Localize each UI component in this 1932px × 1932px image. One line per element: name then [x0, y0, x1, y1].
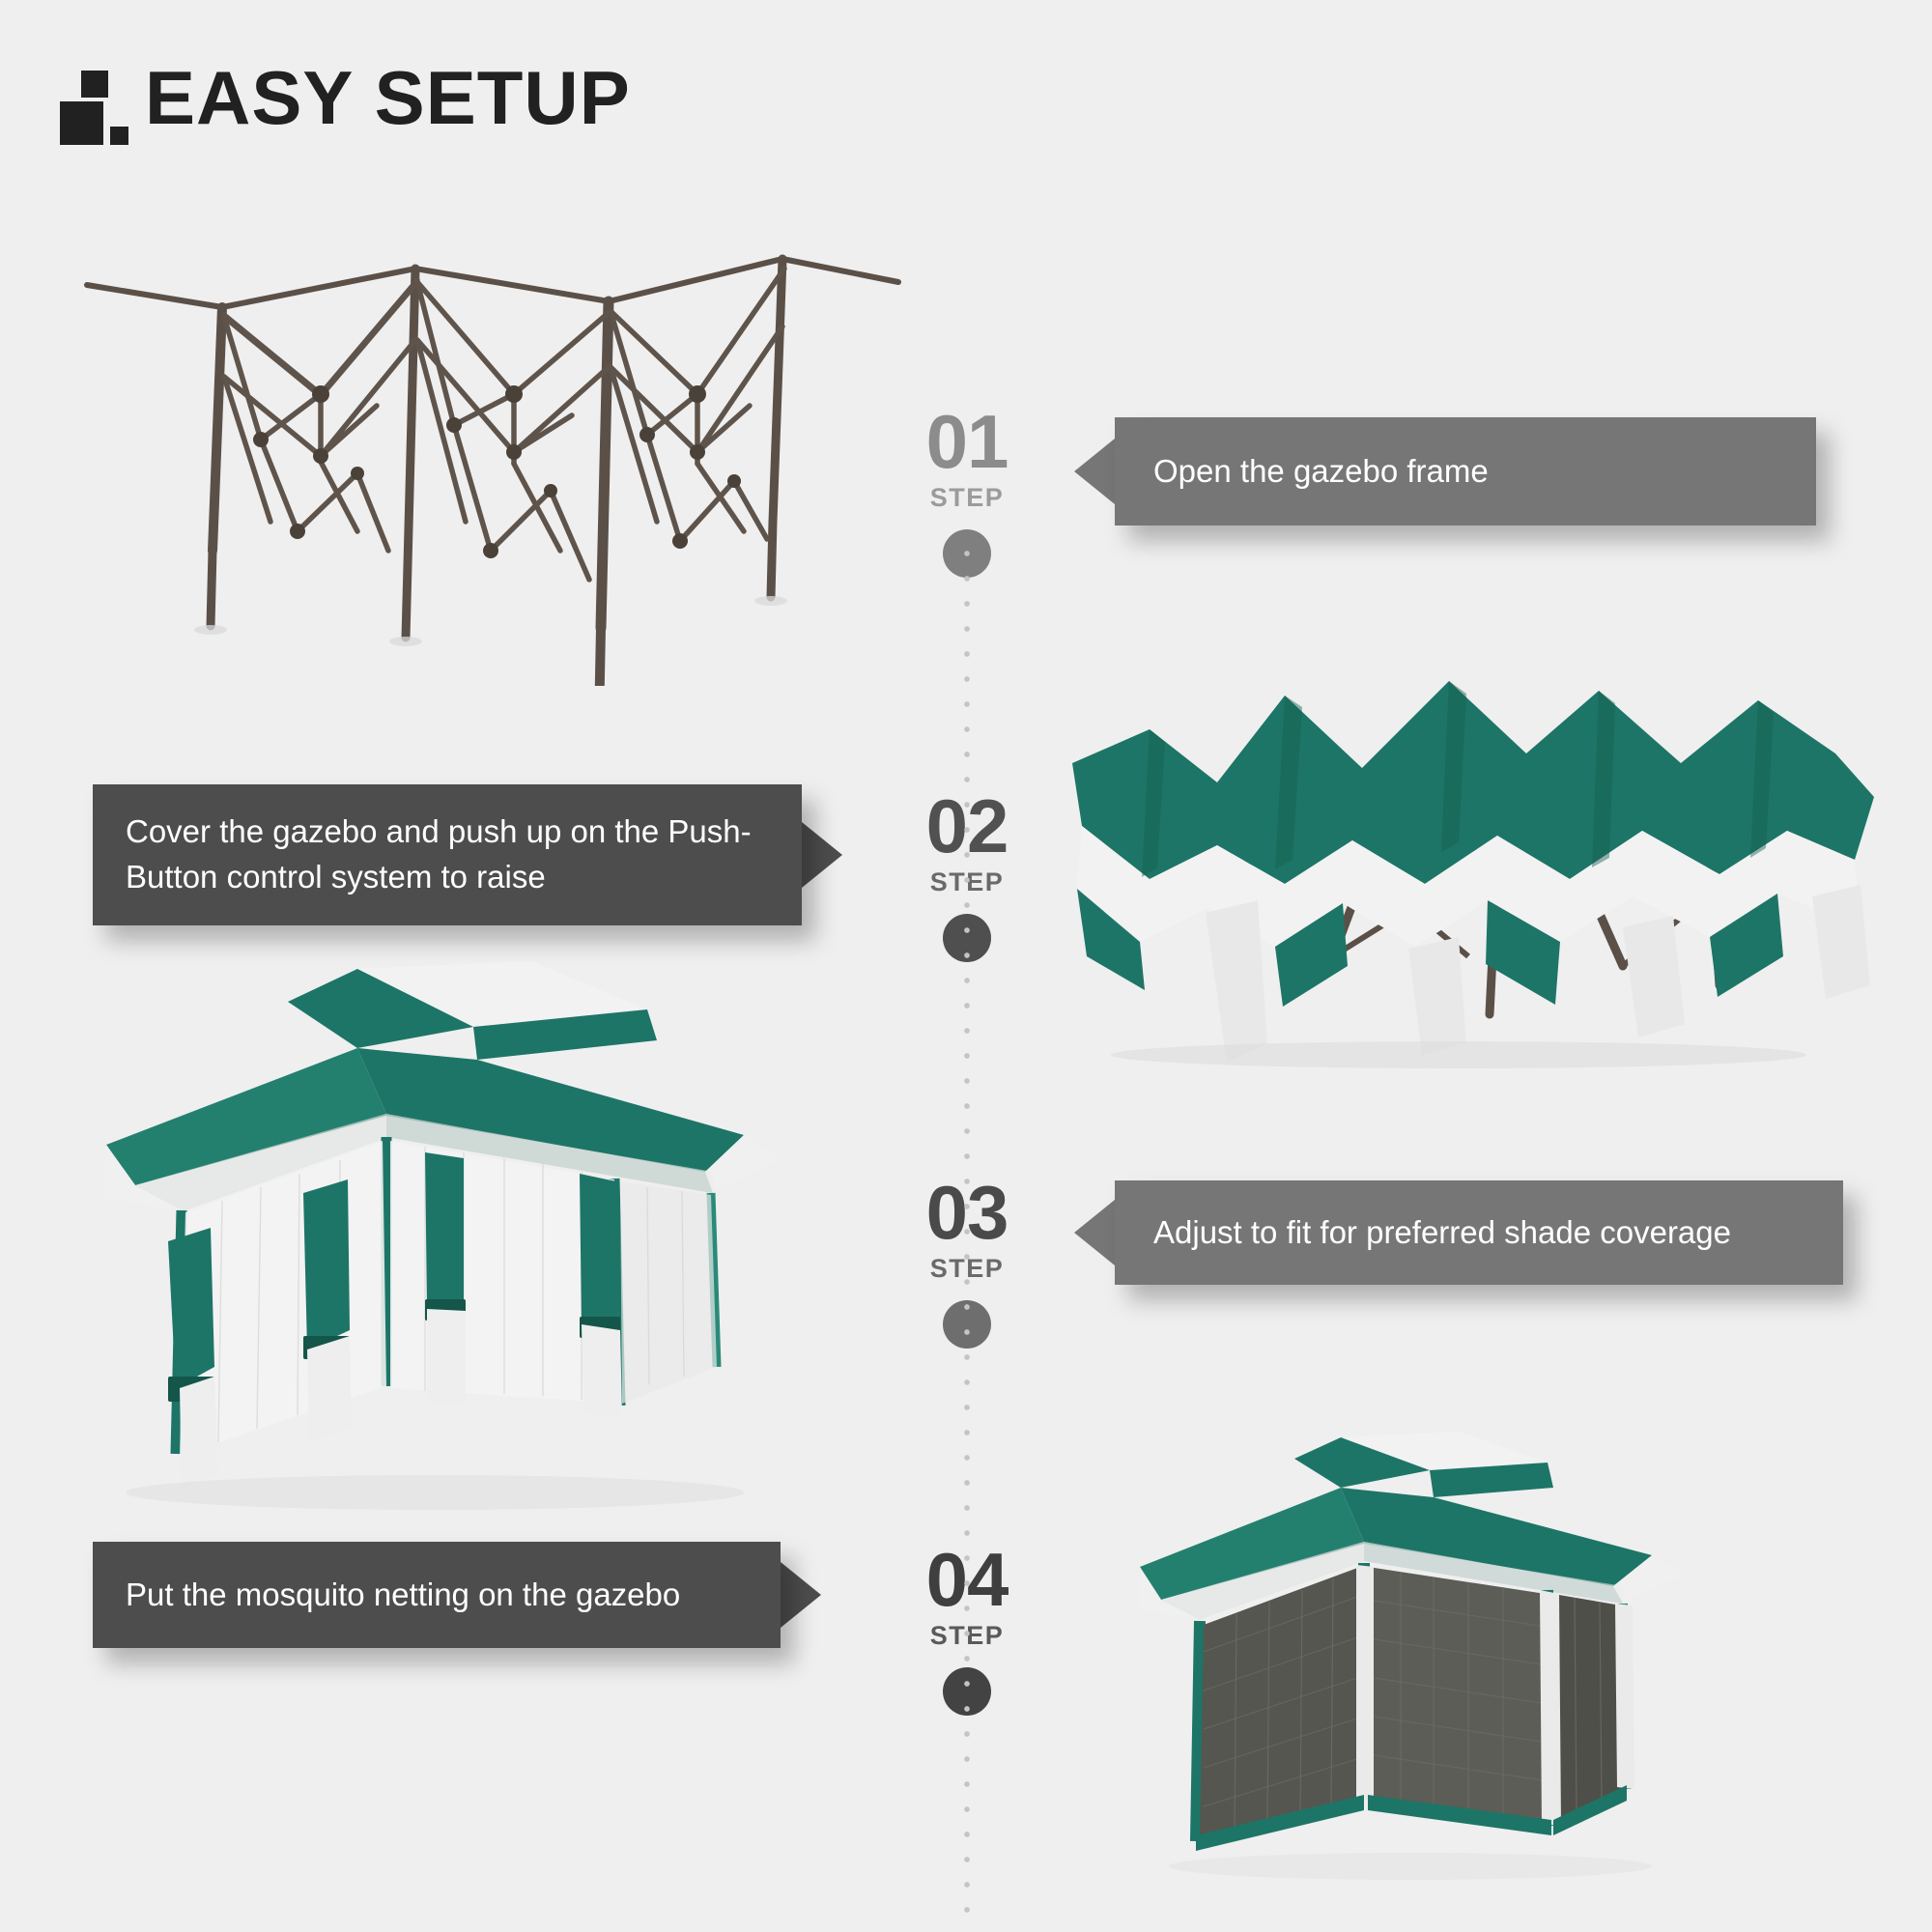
callout-step-02[interactable]: Cover the gazebo and push up on the Push…	[93, 784, 842, 925]
callout-body-02: Cover the gazebo and push up on the Push…	[93, 784, 802, 925]
callout-body-01: Open the gazebo frame	[1115, 417, 1816, 526]
callout-step-04[interactable]: Put the mosquito netting on the gazebo	[93, 1542, 821, 1648]
page-title: EASY SETUP	[145, 60, 631, 135]
photo-gazebo-raised-with-curtains	[68, 952, 879, 1550]
blocks-logo-icon	[60, 63, 120, 132]
callout-text-01: Open the gazebo frame	[1153, 449, 1489, 495]
callout-arrow-icon	[802, 822, 842, 888]
callout-arrow-icon	[1074, 439, 1115, 504]
callout-step-03[interactable]: Adjust to fit for preferred shade covera…	[1074, 1180, 1843, 1285]
callout-step-01[interactable]: Open the gazebo frame	[1074, 417, 1816, 526]
page-header: EASY SETUP	[60, 60, 631, 135]
step-number-01: 01	[866, 406, 1068, 477]
callout-text-04: Put the mosquito netting on the gazebo	[126, 1573, 680, 1618]
photo-gazebo-with-mosquito-netting	[1111, 1420, 1806, 1922]
photo-gazebo-canopy-draped	[1043, 638, 1893, 1072]
callout-text-03: Adjust to fit for preferred shade covera…	[1153, 1210, 1731, 1256]
timeline-dotted-line	[962, 541, 972, 1932]
step-word-01: STEP	[866, 483, 1068, 513]
callout-body-03: Adjust to fit for preferred shade covera…	[1115, 1180, 1843, 1285]
callout-arrow-icon	[781, 1562, 821, 1628]
callout-text-02: Cover the gazebo and push up on the Push…	[126, 810, 763, 900]
callout-arrow-icon	[1074, 1200, 1115, 1265]
photo-gazebo-frame-skeleton	[68, 232, 918, 686]
callout-body-04: Put the mosquito netting on the gazebo	[93, 1542, 781, 1648]
infographic-canvas: EASY SETUP	[0, 0, 1932, 1932]
